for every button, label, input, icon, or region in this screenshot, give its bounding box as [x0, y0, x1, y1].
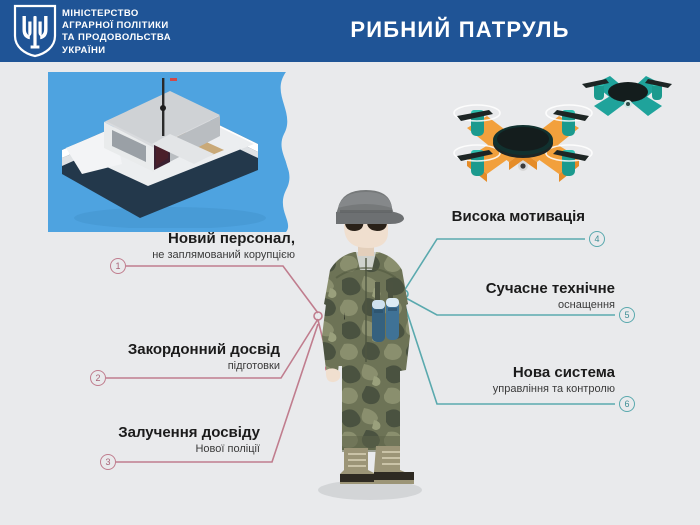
- label-5-title: Сучасне технічне: [400, 280, 615, 298]
- label-2-title: Закордонний досвід: [10, 341, 280, 359]
- ministry-name: МІНІСТЕРСТВО АГРАРНОЇ ПОЛІТИКИ ТА ПРОДОВ…: [62, 8, 242, 57]
- label-6-subtitle: управління та контролю: [400, 382, 615, 396]
- ministry-line-1: МІНІСТЕРСТВО: [62, 8, 242, 20]
- label-2-subtitle: підготовки: [10, 359, 280, 373]
- patrol-boat: [52, 78, 282, 228]
- label-1-number[interactable]: 1: [110, 258, 126, 274]
- label-1-title: Новий персонал,: [10, 230, 295, 248]
- label-2[interactable]: Закордонний досвід підготовки: [10, 341, 280, 373]
- cap-brim: [336, 212, 404, 224]
- cap: [336, 190, 404, 224]
- quadcopter-drone-teal: [578, 66, 676, 126]
- label-2-number[interactable]: 2: [90, 370, 106, 386]
- label-6[interactable]: Нова система управління та контролю: [400, 364, 615, 396]
- label-4-title: Висока мотивація: [400, 208, 585, 226]
- ministry-line-3: ТА ПРОДОВОЛЬСТВА: [62, 32, 242, 44]
- label-3-number[interactable]: 3: [100, 454, 116, 470]
- ukraine-trident-emblem: [12, 4, 58, 58]
- label-5[interactable]: Сучасне технічне оснащення: [400, 280, 615, 312]
- ministry-line-2: АГРАРНОЇ ПОЛІТИКИ: [62, 20, 242, 32]
- ministry-line-4: УКРАЇНИ: [62, 45, 242, 57]
- header-bar: МІНІСТЕРСТВО АГРАРНОЇ ПОЛІТИКИ ТА ПРОДОВ…: [0, 0, 700, 62]
- label-6-title: Нова система: [400, 364, 615, 382]
- label-4[interactable]: Висока мотивація: [400, 208, 585, 226]
- infographic-canvas: МІНІСТЕРСТВО АГРАРНОЇ ПОЛІТИКИ ТА ПРОДОВ…: [0, 0, 700, 525]
- label-5-number[interactable]: 5: [619, 307, 635, 323]
- page-title: РИБНИЙ ПАТРУЛЬ: [250, 17, 670, 43]
- label-3[interactable]: Залучення досвіду Нової поліції: [10, 424, 260, 456]
- label-5-subtitle: оснащення: [400, 298, 615, 312]
- hand: [326, 368, 341, 382]
- label-1[interactable]: Новий персонал, не заплямований корупціє…: [10, 230, 295, 262]
- label-6-number[interactable]: 6: [619, 396, 635, 412]
- boots: [340, 446, 414, 484]
- label-3-title: Залучення досвіду: [10, 424, 260, 442]
- label-4-number[interactable]: 4: [589, 231, 605, 247]
- label-1-subtitle: не заплямований корупцією: [10, 248, 295, 262]
- label-3-subtitle: Нової поліції: [10, 442, 260, 456]
- fish-patrol-officer: [296, 186, 436, 502]
